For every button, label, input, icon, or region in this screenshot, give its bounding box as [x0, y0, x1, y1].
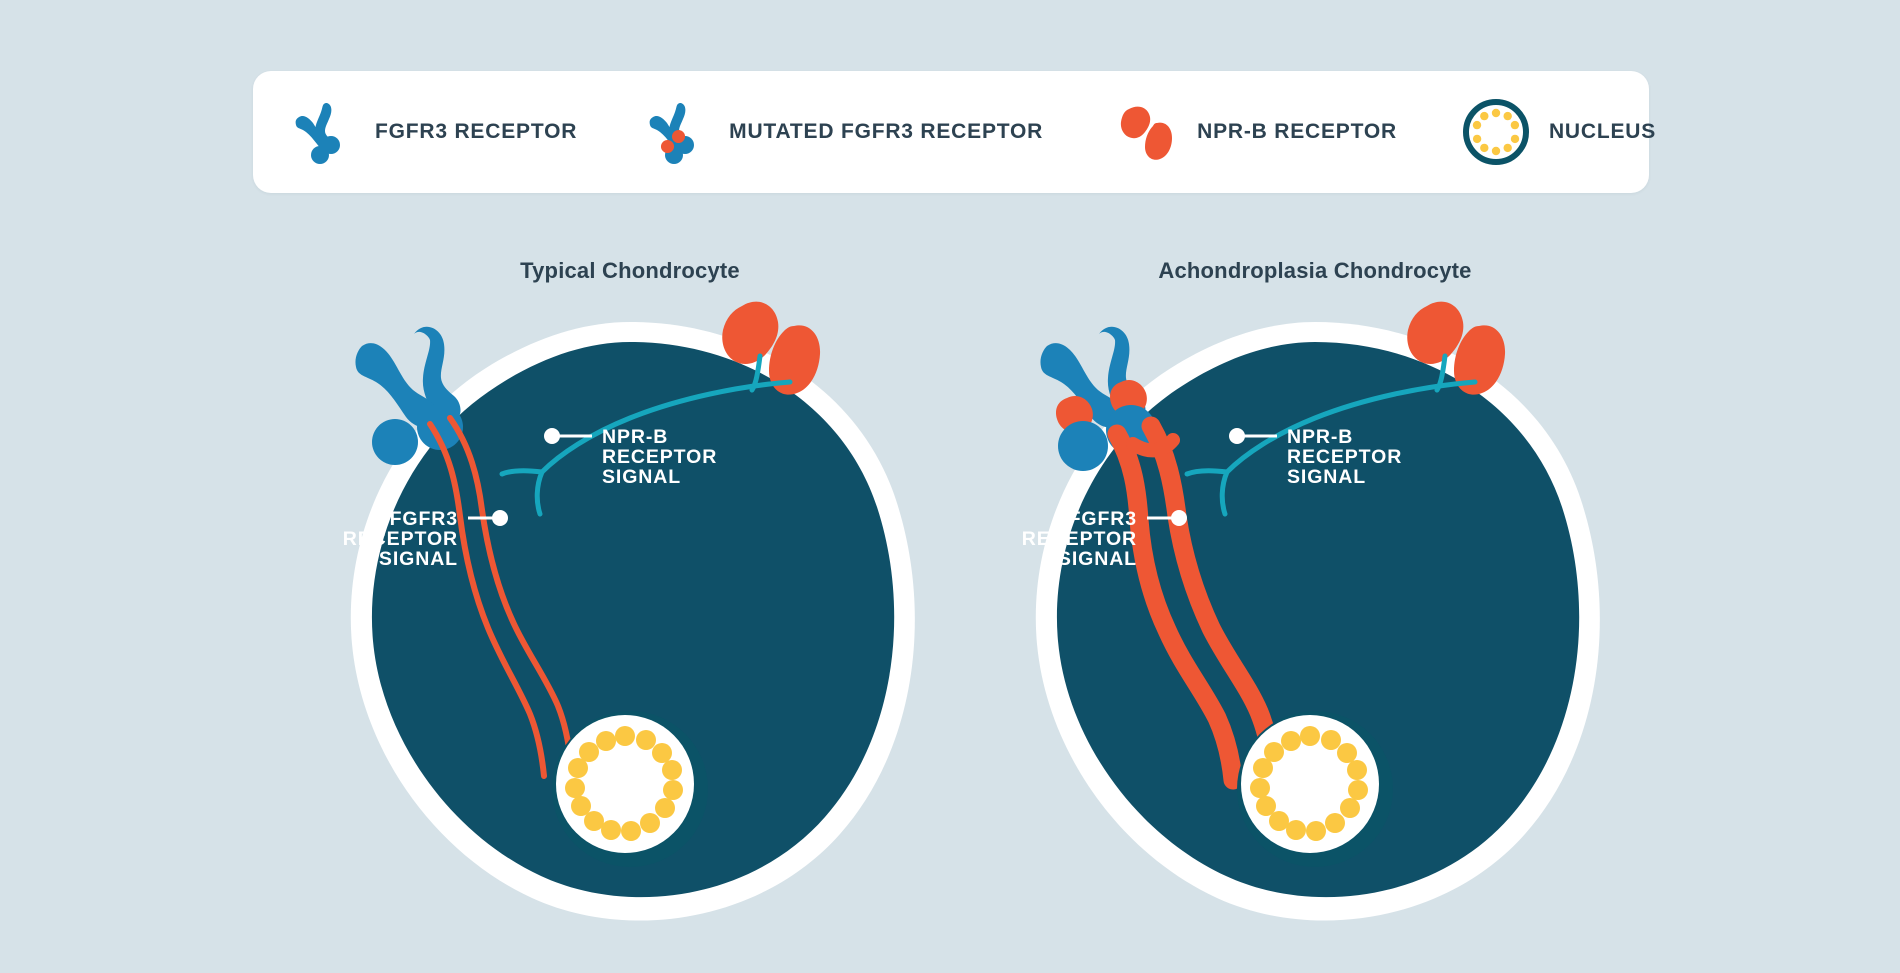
- callout-line: RECEPTOR: [1287, 446, 1402, 468]
- panel-title: Typical Chondrocyte: [320, 258, 940, 298]
- legend-label: FGFR3 RECEPTOR: [375, 120, 577, 144]
- npr-b-receptor-icon: [1107, 95, 1181, 169]
- callout-line: FGFR3: [1069, 508, 1137, 530]
- fgfr3-receptor: [355, 327, 463, 465]
- nucleus-icon: [1459, 95, 1533, 169]
- panel-achondroplasia-chondrocyte: Achondroplasia Chondrocyte: [1005, 258, 1625, 938]
- callout-line: FGFR3: [390, 508, 458, 530]
- legend-item-nucleus: NUCLEUS: [1459, 95, 1656, 169]
- panel-typical-chondrocyte: Typical Chondrocyte: [320, 258, 940, 938]
- nucleus: [1237, 711, 1393, 867]
- panel-title: Achondroplasia Chondrocyte: [1005, 258, 1625, 298]
- legend-bar: FGFR3 RECEPTOR MUTATED FGFR3 RECEPTOR: [253, 71, 1649, 193]
- callout-line: SIGNAL: [602, 466, 681, 488]
- achondroplasia-chondrocyte-illustration: FGFR3 RECEPTOR SIGNAL NPR-B RECEPTOR SIG…: [1005, 294, 1625, 934]
- typical-chondrocyte-illustration: FGFR3 RECEPTOR SIGNAL NPR-B RECEPTOR SIG…: [320, 294, 940, 934]
- fgfr3-receptor-icon: [285, 95, 359, 169]
- callout-line: SIGNAL: [379, 548, 458, 570]
- callout-dot: [1171, 510, 1187, 526]
- callout-line: SIGNAL: [1058, 548, 1137, 570]
- callout-line: SIGNAL: [1287, 466, 1366, 488]
- callout-dot: [492, 510, 508, 526]
- nucleus: [552, 711, 708, 867]
- callout-line: RECEPTOR: [1022, 528, 1137, 550]
- legend-item-mutated-fgfr3-receptor: MUTATED FGFR3 RECEPTOR: [639, 95, 1043, 169]
- legend-item-fgfr3-receptor: FGFR3 RECEPTOR: [285, 95, 577, 169]
- legend-item-npr-b-receptor: NPR-B RECEPTOR: [1107, 95, 1397, 169]
- legend-label: NPR-B RECEPTOR: [1197, 120, 1397, 144]
- legend-label: NUCLEUS: [1549, 120, 1656, 144]
- diagram-root: FGFR3 RECEPTOR MUTATED FGFR3 RECEPTOR: [0, 0, 1900, 973]
- callout-line: RECEPTOR: [343, 528, 458, 550]
- callout-line: RECEPTOR: [602, 446, 717, 468]
- legend-label: MUTATED FGFR3 RECEPTOR: [729, 120, 1043, 144]
- callout-line: NPR-B: [1287, 426, 1353, 448]
- mutated-fgfr3-receptor-icon: [639, 95, 713, 169]
- callout-line: NPR-B: [602, 426, 668, 448]
